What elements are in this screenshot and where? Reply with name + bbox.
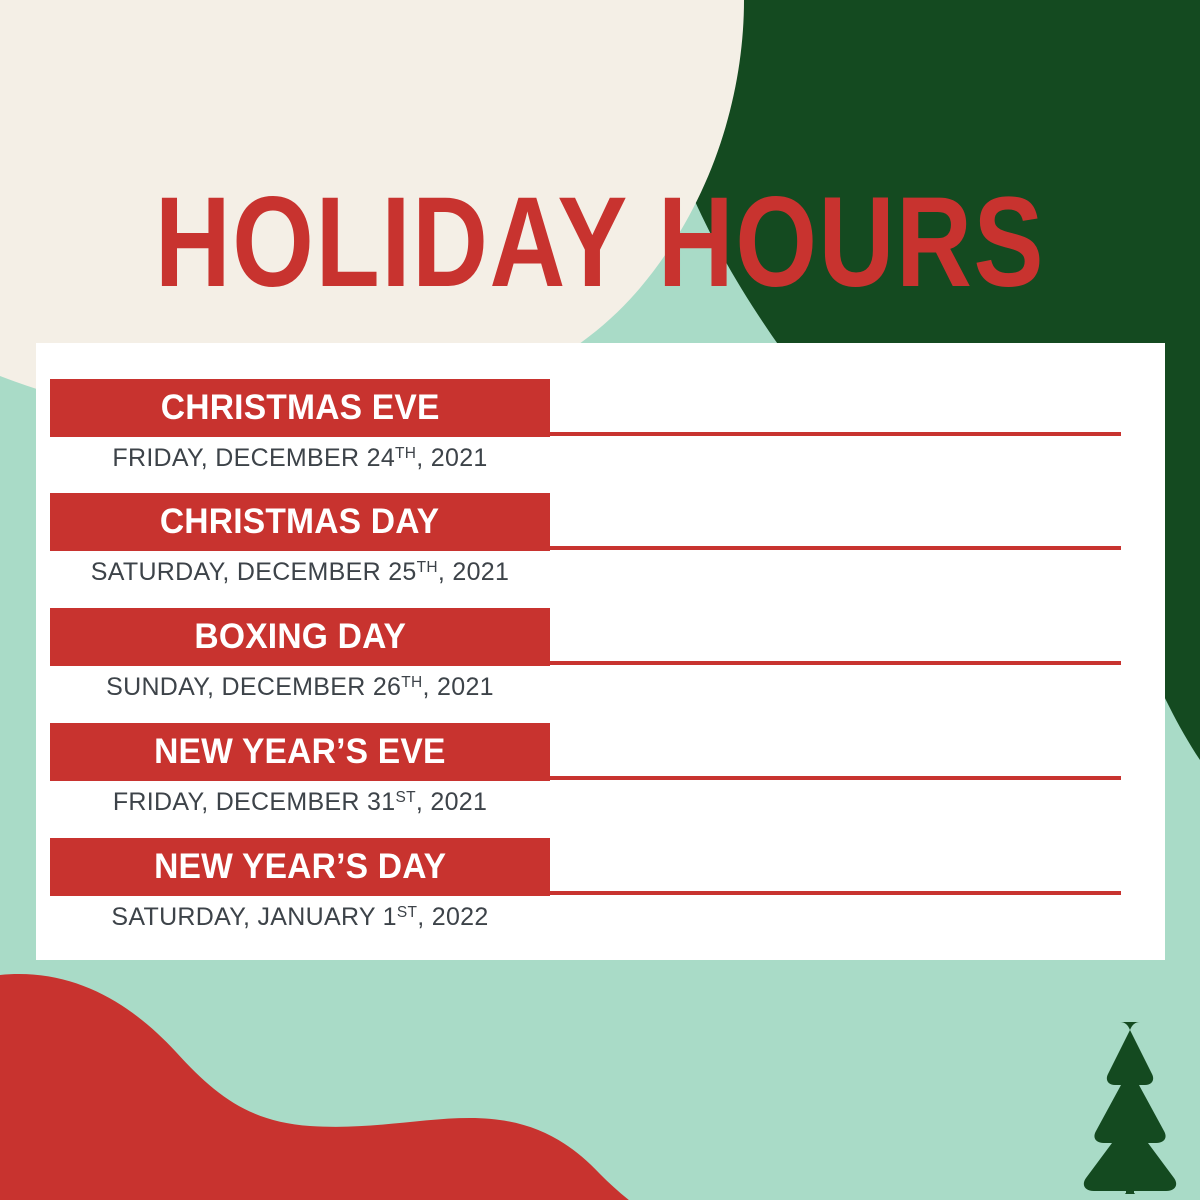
holiday-banner[interactable]: NEW YEAR’S EVE	[50, 723, 550, 781]
hours-write-in-line[interactable]	[550, 661, 1121, 665]
holiday-banner[interactable]: BOXING DAY	[50, 608, 550, 666]
christmas-tree-icon	[1060, 1018, 1180, 1194]
holiday-date-year: , 2021	[438, 558, 509, 586]
hours-write-in-line[interactable]	[550, 891, 1121, 895]
hours-write-in-line[interactable]	[550, 432, 1121, 436]
holiday-date-year: , 2021	[416, 788, 487, 816]
holiday-date-ordinal: ST	[395, 789, 415, 806]
holiday-date-ordinal: TH	[395, 445, 416, 462]
holiday-hours-poster: HOLIDAY HOURS CHRISTMAS EVE FRIDAY, DECE…	[0, 0, 1200, 1200]
holiday-date-ordinal: ST	[397, 904, 417, 921]
holiday-date-year: , 2021	[416, 444, 487, 472]
holiday-date-ordinal: TH	[401, 674, 422, 691]
holiday-date-year: , 2022	[417, 903, 488, 931]
holiday-banner[interactable]: CHRISTMAS EVE	[50, 379, 550, 437]
schedule-card: CHRISTMAS EVE FRIDAY, DECEMBER 24TH, 202…	[36, 343, 1165, 960]
holiday-date-main: SUNDAY, DECEMBER 26	[106, 673, 401, 701]
schedule-rows: CHRISTMAS EVE FRIDAY, DECEMBER 24TH, 202…	[36, 343, 1165, 960]
holiday-date-main: FRIDAY, DECEMBER 31	[113, 788, 396, 816]
holiday-name: CHRISTMAS EVE	[161, 389, 440, 427]
holiday-date-main: FRIDAY, DECEMBER 24	[112, 444, 395, 472]
holiday-date-year: , 2021	[423, 673, 494, 701]
holiday-name: BOXING DAY	[194, 618, 406, 656]
holiday-date-ordinal: TH	[417, 559, 438, 576]
holiday-name: CHRISTMAS DAY	[160, 503, 439, 541]
holiday-banner[interactable]: CHRISTMAS DAY	[50, 493, 550, 551]
holiday-date: SATURDAY, JANUARY 1ST, 2022	[50, 898, 550, 936]
holiday-date: FRIDAY, DECEMBER 31ST, 2021	[50, 783, 550, 821]
page-title: HOLIDAY HOURS	[108, 188, 1092, 298]
hours-write-in-line[interactable]	[550, 776, 1121, 780]
holiday-date: SATURDAY, DECEMBER 25TH, 2021	[50, 553, 550, 591]
holiday-date: SUNDAY, DECEMBER 26TH, 2021	[50, 668, 550, 706]
holiday-date-main: SATURDAY, JANUARY 1	[111, 903, 396, 931]
holiday-banner[interactable]: NEW YEAR’S DAY	[50, 838, 550, 896]
hours-write-in-line[interactable]	[550, 546, 1121, 550]
holiday-date-main: SATURDAY, DECEMBER 25	[91, 558, 417, 586]
holiday-date: FRIDAY, DECEMBER 24TH, 2021	[50, 439, 550, 477]
holiday-name: NEW YEAR’S DAY	[154, 848, 446, 886]
holiday-name: NEW YEAR’S EVE	[154, 733, 445, 771]
